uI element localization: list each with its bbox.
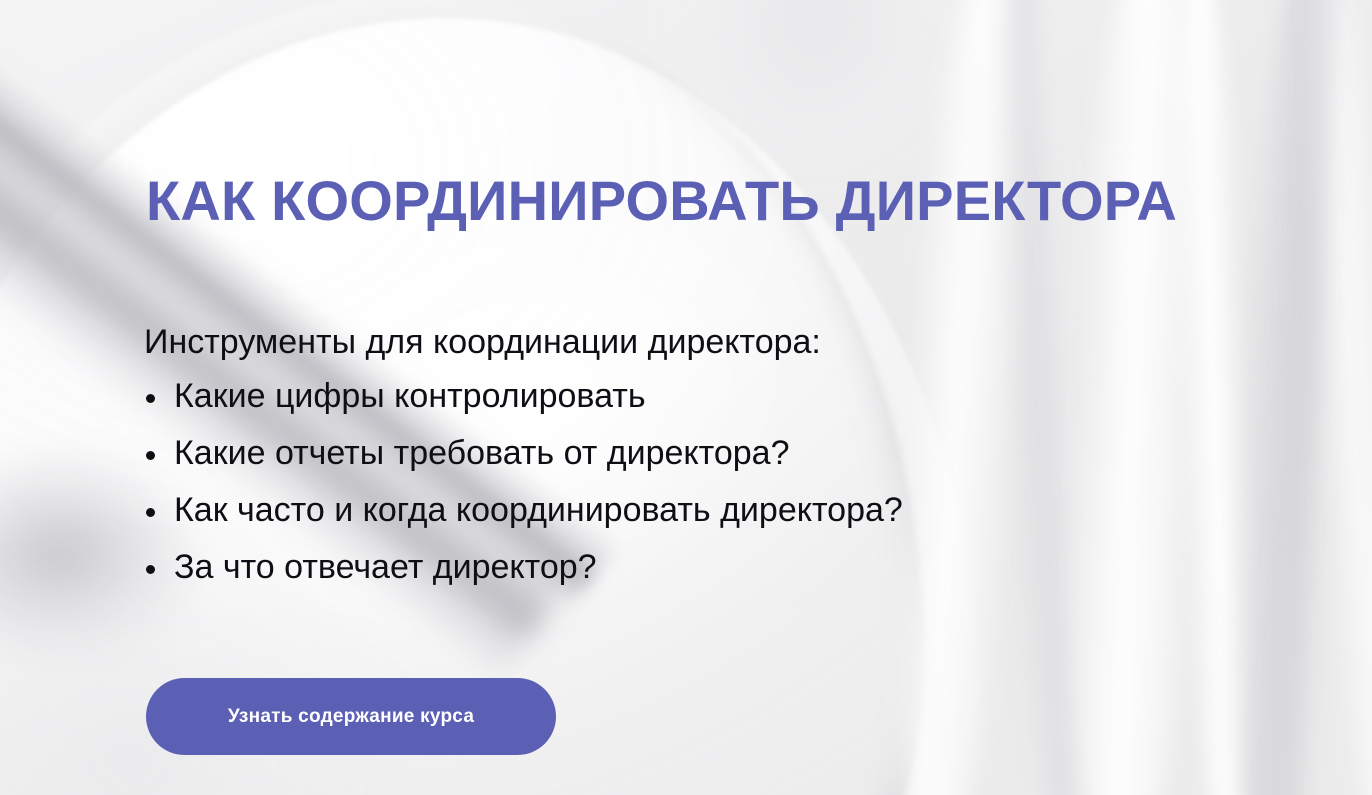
- page-title: КАК КООРДИНИРОВАТЬ ДИРЕКТОРА: [146, 173, 1177, 229]
- body-copy: Инструменты для координации директора: К…: [144, 322, 1144, 588]
- slide-content: КАК КООРДИНИРОВАТЬ ДИРЕКТОРА Инструменты…: [0, 0, 1372, 795]
- bullet-dot-icon: [146, 394, 155, 403]
- feature-list: Какие цифры контролировать Какие отчеты …: [144, 376, 1144, 587]
- list-item: Как часто и когда координировать директо…: [144, 490, 1144, 530]
- course-content-cta-button[interactable]: Узнать содержание курса: [146, 678, 556, 755]
- bullet-dot-icon: [146, 451, 155, 460]
- list-item: Какие отчеты требовать от директора?: [144, 433, 1144, 473]
- promo-slide: КАК КООРДИНИРОВАТЬ ДИРЕКТОРА Инструменты…: [0, 0, 1372, 795]
- bullet-dot-icon: [146, 565, 155, 574]
- list-item-label: Как часто и когда координировать директо…: [174, 491, 903, 529]
- intro-text: Инструменты для координации директора:: [144, 322, 1144, 362]
- list-item: Какие цифры контролировать: [144, 376, 1144, 416]
- list-item: За что отвечает директор?: [144, 547, 1144, 587]
- list-item-label: Какие отчеты требовать от директора?: [174, 434, 790, 472]
- list-item-label: Какие цифры контролировать: [174, 377, 646, 415]
- bullet-dot-icon: [146, 508, 155, 517]
- list-item-label: За что отвечает директор?: [174, 548, 597, 586]
